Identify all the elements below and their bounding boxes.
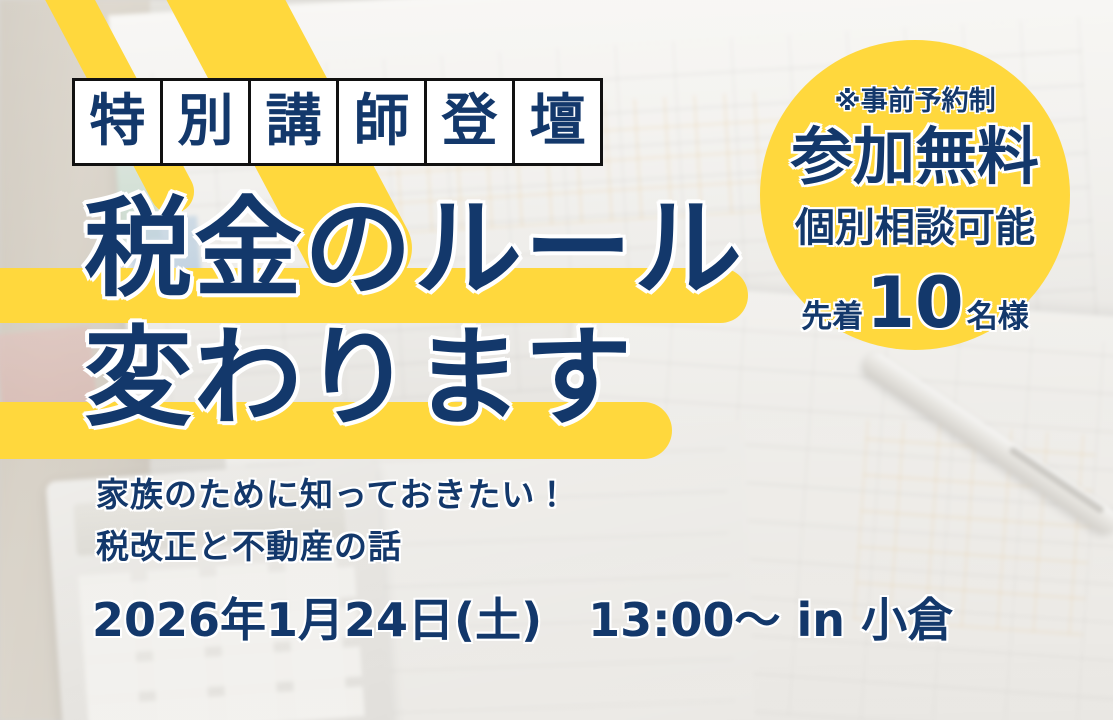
- kanji-box-4: 師: [336, 78, 427, 166]
- badge-seat-number: 10: [863, 268, 966, 338]
- badge-free-admission-text: 参加無料: [760, 126, 1070, 188]
- badge-seat-limit: 先着 10 名様: [760, 268, 1070, 338]
- kanji-box-1: 特: [72, 78, 163, 166]
- subheadline-line-1: 家族のために知っておきたい！: [96, 478, 569, 511]
- badge-seat-suffix: 名様: [967, 302, 1029, 333]
- subheadline-line-2: 税改正と不動産の話: [96, 530, 402, 563]
- free-admission-badge: ※事前予約制 参加無料 個別相談可能 先着 10 名様: [760, 40, 1070, 350]
- kanji-box-3: 講: [248, 78, 339, 166]
- headline-line-1: 税金のルール: [84, 196, 744, 304]
- seminar-banner: 特 別 講 師 登 壇 税金のルール 変わります 家族のために知っておきたい！ …: [0, 0, 1113, 720]
- event-schedule-line: 2026年1月24日(土) 13:00〜 in 小倉: [92, 597, 953, 643]
- kanji-box-2: 別: [160, 78, 251, 166]
- kanji-box-6: 壇: [512, 78, 603, 166]
- special-lecturer-box-row: 特 別 講 師 登 壇: [72, 78, 600, 166]
- badge-reservation-note: ※事前予約制: [760, 88, 1070, 115]
- headline-line-2: 変わります: [84, 325, 634, 433]
- badge-seat-prefix: 先着: [801, 302, 863, 333]
- badge-consultation-text: 個別相談可能: [760, 208, 1070, 248]
- kanji-box-5: 登: [424, 78, 515, 166]
